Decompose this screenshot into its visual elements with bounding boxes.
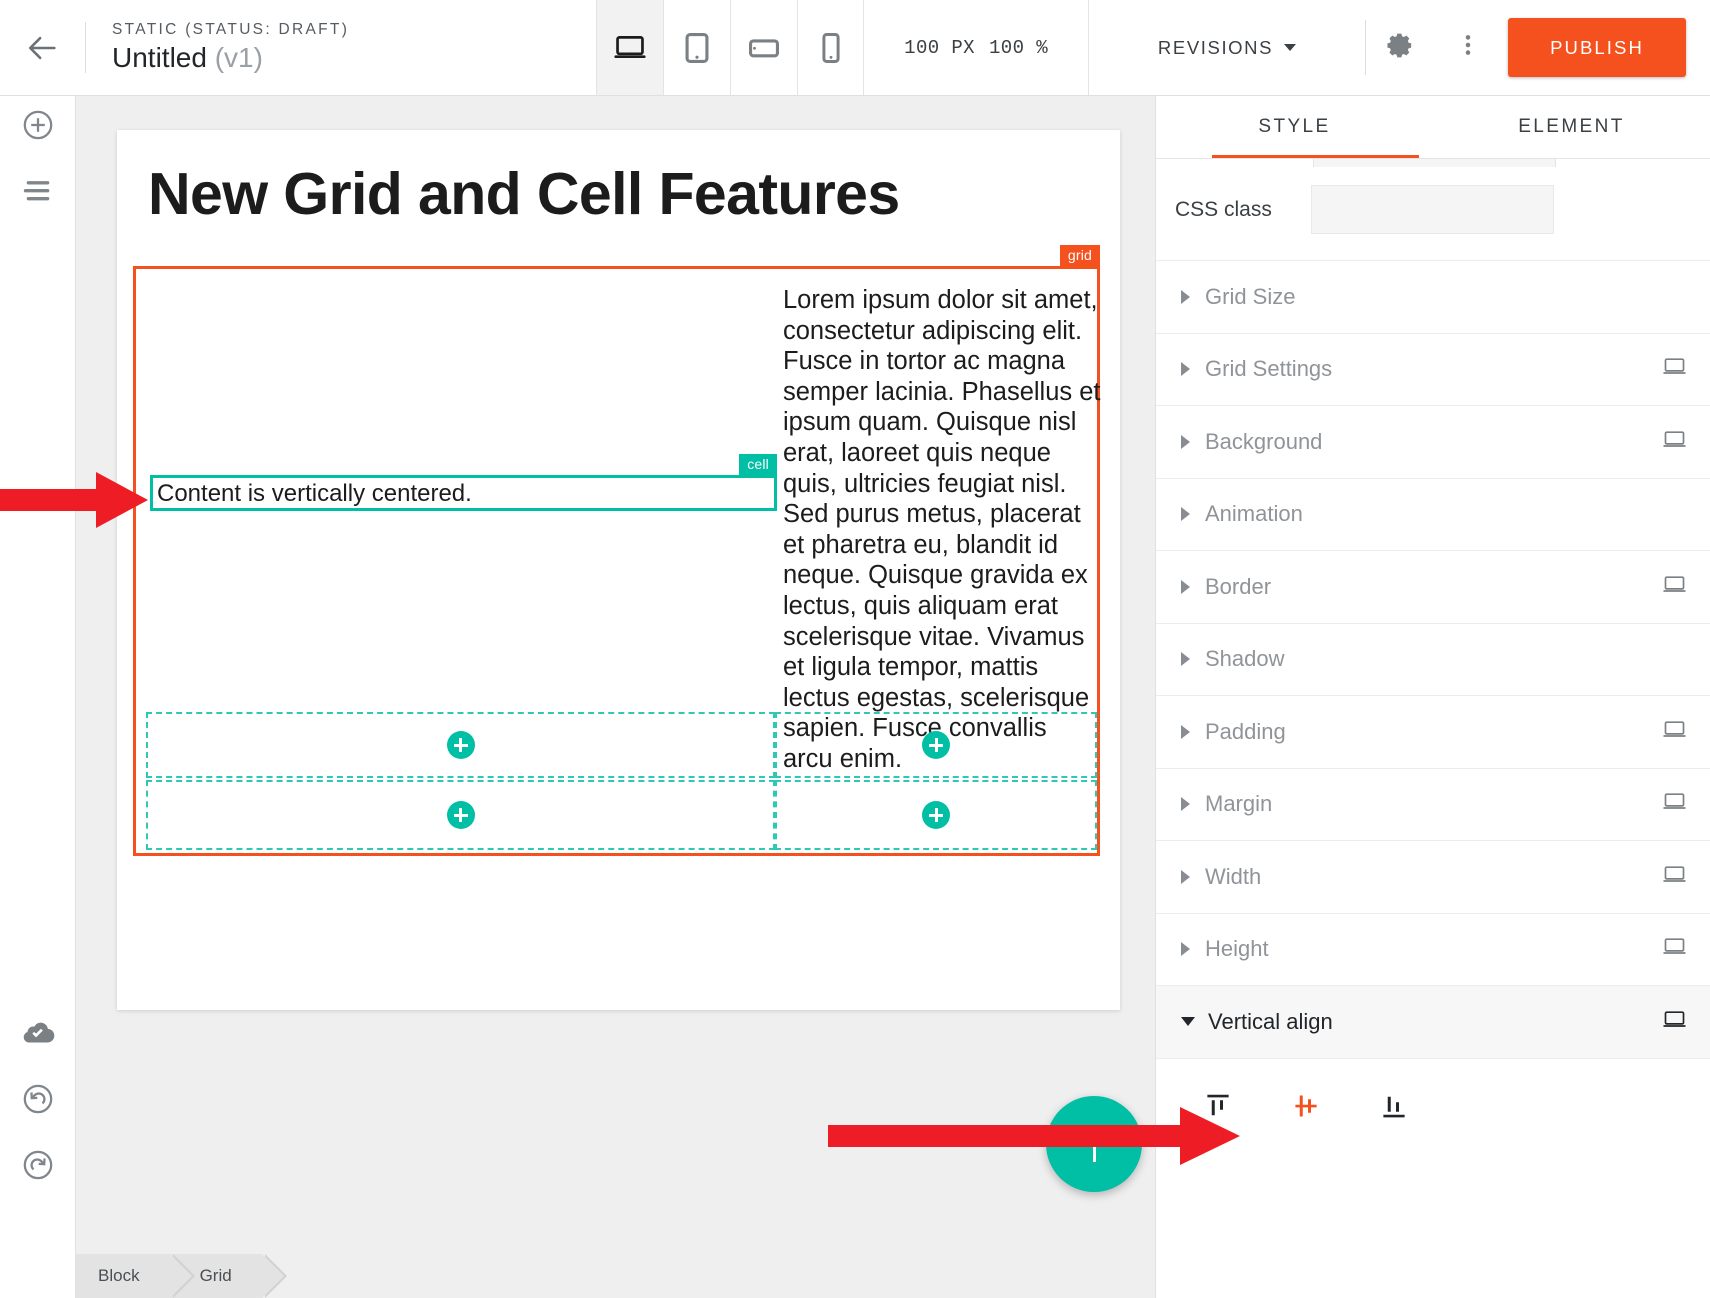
document-version: (v1) [215, 42, 263, 73]
section-label: Margin [1205, 791, 1661, 817]
add-icon [21, 108, 55, 147]
tab-style[interactable]: STYLE [1156, 96, 1433, 158]
plus-circle-icon[interactable] [447, 801, 475, 829]
plus-circle-icon[interactable] [922, 731, 950, 759]
section-label: Background [1205, 429, 1661, 455]
section-label: Grid Settings [1205, 356, 1661, 382]
section-height[interactable]: Height [1156, 914, 1710, 987]
device-scope-icon[interactable] [1661, 353, 1688, 385]
chevron-down-icon [1181, 1017, 1195, 1026]
publish-button[interactable]: PUBLISH [1508, 18, 1686, 77]
device-scope-icon[interactable] [1661, 788, 1688, 820]
page-heading[interactable]: New Grid and Cell Features [148, 164, 1078, 226]
chevron-right-icon [1181, 725, 1190, 739]
empty-cell-slot[interactable] [775, 712, 1097, 778]
device-scope-icon[interactable] [1661, 426, 1688, 458]
grid-element[interactable]: grid Lorem ipsum dolor sit amet, consect… [133, 266, 1100, 856]
back-button[interactable] [0, 0, 85, 95]
revisions-label: REVISIONS [1158, 37, 1273, 59]
desktop-icon [613, 31, 647, 65]
zoom-info[interactable]: 100 PX 100 % [864, 0, 1089, 95]
chevron-right-icon [1181, 870, 1190, 884]
cell-badge: cell [739, 454, 777, 477]
layers-icon [21, 176, 55, 211]
undo-icon [21, 1082, 55, 1121]
section-label: Padding [1205, 719, 1661, 745]
chevron-down-icon [1284, 44, 1296, 51]
clipped-field-above[interactable] [1313, 158, 1556, 167]
chevron-right-icon [1181, 652, 1190, 666]
device-scope-icon[interactable] [1661, 1006, 1688, 1038]
align-bottom-icon[interactable] [1374, 1086, 1414, 1126]
document-status: STATIC (STATUS: DRAFT) [112, 21, 349, 40]
tablet-landscape-preview-button[interactable] [730, 0, 797, 95]
add-block-fab[interactable] [1046, 1096, 1142, 1192]
cloud-saved-icon [21, 1016, 55, 1049]
lorem-paragraph[interactable]: Lorem ipsum dolor sit amet, consectetur … [783, 285, 1103, 775]
align-top-icon[interactable] [1198, 1086, 1238, 1126]
device-preview-group [596, 0, 864, 95]
section-label: Border [1205, 574, 1661, 600]
undo-button[interactable] [0, 1082, 76, 1121]
app-root: STATIC (STATUS: DRAFT) Untitled (v1) [0, 0, 1710, 1298]
css-class-input[interactable] [1311, 185, 1554, 234]
revisions-dropdown[interactable]: REVISIONS [1158, 37, 1296, 59]
empty-cell-slot[interactable] [146, 712, 775, 778]
css-class-row: CSS class [1156, 159, 1710, 261]
section-width[interactable]: Width [1156, 841, 1710, 914]
chevron-right-icon [1181, 797, 1190, 811]
page-preview[interactable]: New Grid and Cell Features grid Lorem ip… [117, 130, 1120, 1010]
section-animation[interactable]: Animation [1156, 479, 1710, 552]
section-grid-size[interactable]: Grid Size [1156, 261, 1710, 334]
empty-cell-slot[interactable] [775, 780, 1097, 850]
device-scope-icon[interactable] [1661, 716, 1688, 748]
empty-cell-slot[interactable] [146, 780, 775, 850]
device-scope-icon[interactable] [1661, 933, 1688, 965]
section-label: Animation [1205, 501, 1688, 527]
chevron-right-icon [1181, 435, 1190, 449]
zoom-percent-value: 100 % [989, 37, 1048, 59]
device-scope-icon[interactable] [1661, 861, 1688, 893]
revisions-area: REVISIONS [1089, 0, 1365, 95]
section-margin[interactable]: Margin [1156, 769, 1710, 842]
section-grid-settings[interactable]: Grid Settings [1156, 334, 1710, 407]
gear-icon [1385, 30, 1416, 66]
desktop-preview-button[interactable] [596, 0, 663, 95]
more-vertical-icon [1455, 30, 1481, 65]
chevron-right-icon [1181, 507, 1190, 521]
left-rail [0, 96, 76, 1298]
css-class-label: CSS class [1175, 198, 1295, 222]
section-background[interactable]: Background [1156, 406, 1710, 479]
redo-button[interactable] [0, 1148, 76, 1187]
chevron-right-icon [1181, 580, 1190, 594]
section-label: Width [1205, 864, 1661, 890]
tablet-landscape-icon [747, 31, 781, 65]
grid-badge: grid [1060, 245, 1100, 268]
more-options-button[interactable] [1434, 0, 1502, 95]
save-status-button[interactable] [0, 1016, 76, 1049]
vertical-align-options [1156, 1059, 1710, 1154]
chevron-right-icon [1181, 362, 1190, 376]
redo-icon [21, 1148, 55, 1187]
chevron-right-icon [1181, 290, 1190, 304]
section-vertical-align[interactable]: Vertical align [1156, 986, 1710, 1059]
chevron-right-icon [1181, 942, 1190, 956]
top-toolbar: STATIC (STATUS: DRAFT) Untitled (v1) [0, 0, 1710, 96]
tablet-portrait-preview-button[interactable] [663, 0, 730, 95]
breadcrumb-item-block[interactable]: Block [76, 1254, 170, 1298]
layers-button[interactable] [0, 176, 76, 211]
zoom-px-value: 100 PX [904, 37, 975, 59]
plus-circle-icon[interactable] [447, 731, 475, 759]
document-name: Untitled [112, 42, 207, 73]
add-element-button[interactable] [0, 108, 76, 147]
breadcrumb: Block Grid [76, 1254, 262, 1298]
tablet-portrait-icon [680, 31, 714, 65]
section-label: Height [1205, 936, 1661, 962]
section-label: Shadow [1205, 646, 1688, 672]
plus-circle-icon[interactable] [922, 801, 950, 829]
page-title: Untitled (v1) [112, 42, 349, 74]
section-border[interactable]: Border [1156, 551, 1710, 624]
section-label: Grid Size [1205, 284, 1688, 310]
cell-element-selected[interactable]: cell Content is vertically centered. [150, 475, 777, 511]
document-title-block: STATIC (STATUS: DRAFT) Untitled (v1) [86, 0, 349, 95]
canvas-area[interactable]: New Grid and Cell Features grid Lorem ip… [76, 96, 1155, 1298]
settings-button[interactable] [1366, 0, 1434, 95]
align-middle-icon[interactable] [1286, 1086, 1326, 1126]
device-scope-icon[interactable] [1661, 571, 1688, 603]
cell-text[interactable]: Content is vertically centered. [157, 480, 472, 508]
inspector-tabs: STYLE ELEMENT [1156, 96, 1710, 158]
section-shadow[interactable]: Shadow [1156, 624, 1710, 697]
tab-element[interactable]: ELEMENT [1433, 96, 1710, 158]
mobile-icon [814, 31, 848, 65]
inspector-panel: STYLE ELEMENT CSS class Grid Size Grid S… [1155, 96, 1710, 1298]
arrow-left-icon [26, 31, 60, 65]
mobile-preview-button[interactable] [797, 0, 864, 95]
section-label: Vertical align [1208, 1009, 1661, 1035]
section-padding[interactable]: Padding [1156, 696, 1710, 769]
